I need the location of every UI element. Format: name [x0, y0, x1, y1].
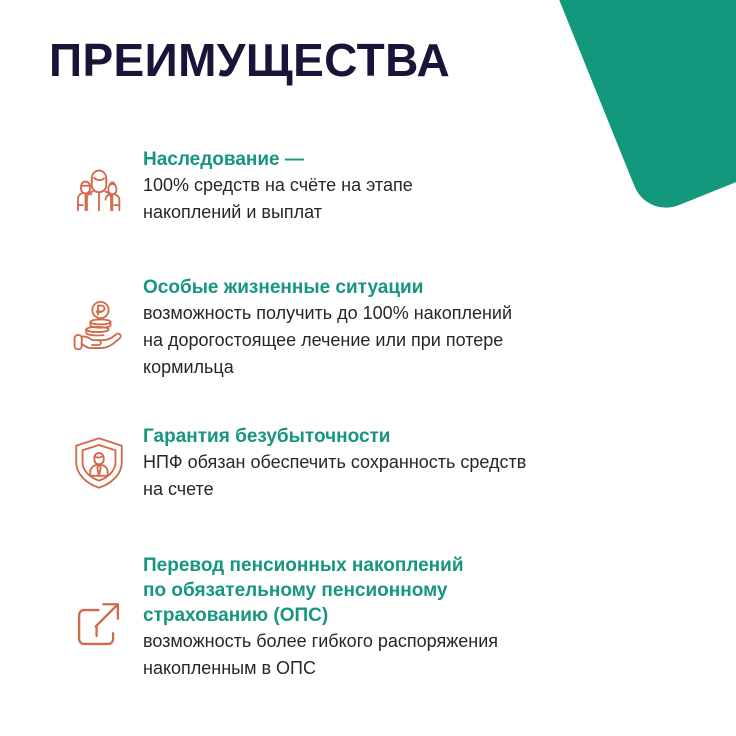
benefit-item-inheritance: Наследование — 100% средств на счёте на … [0, 146, 736, 228]
benefit-heading: Наследование — [143, 148, 616, 172]
benefit-item-guarantee: Гарантия безубыточности НПФ обязан обесп… [0, 423, 736, 503]
export-arrow-icon [55, 589, 143, 665]
benefit-item-ops-transfer: Перевод пенсионных накоплений по обязате… [0, 551, 736, 682]
family-group-icon [55, 152, 143, 228]
benefit-body: Особые жизненные ситуации возможность по… [143, 274, 736, 381]
page-title: ПРЕИМУЩЕСТВА [49, 33, 450, 87]
benefit-text: возможность более гибкого распоряжения н… [143, 628, 616, 682]
hand-with-ruble-coins-icon [55, 288, 143, 364]
benefit-item-special-situations: Особые жизненные ситуации возможность по… [0, 274, 736, 381]
benefit-body: Перевод пенсионных накоплений по обязате… [143, 551, 736, 682]
benefit-heading: Гарантия безубыточности [143, 425, 616, 449]
benefit-text: НПФ обязан обеспечить сохранность средст… [143, 449, 616, 503]
benefit-heading: Особые жизненные ситуации [143, 276, 616, 300]
benefit-body: Наследование — 100% средств на счёте на … [143, 146, 736, 226]
slide-root: ПРЕИМУЩЕСТВА [0, 0, 736, 736]
shield-with-person-icon [55, 425, 143, 501]
benefit-body: Гарантия безубыточности НПФ обязан обесп… [143, 423, 736, 503]
benefit-heading: Перевод пенсионных накоплений по обязате… [143, 553, 616, 628]
benefit-text: возможность получить до 100% накоплений … [143, 300, 616, 381]
benefit-text: 100% средств на счёте на этапе накоплени… [143, 172, 616, 226]
benefits-list: Наследование — 100% средств на счёте на … [0, 146, 736, 682]
